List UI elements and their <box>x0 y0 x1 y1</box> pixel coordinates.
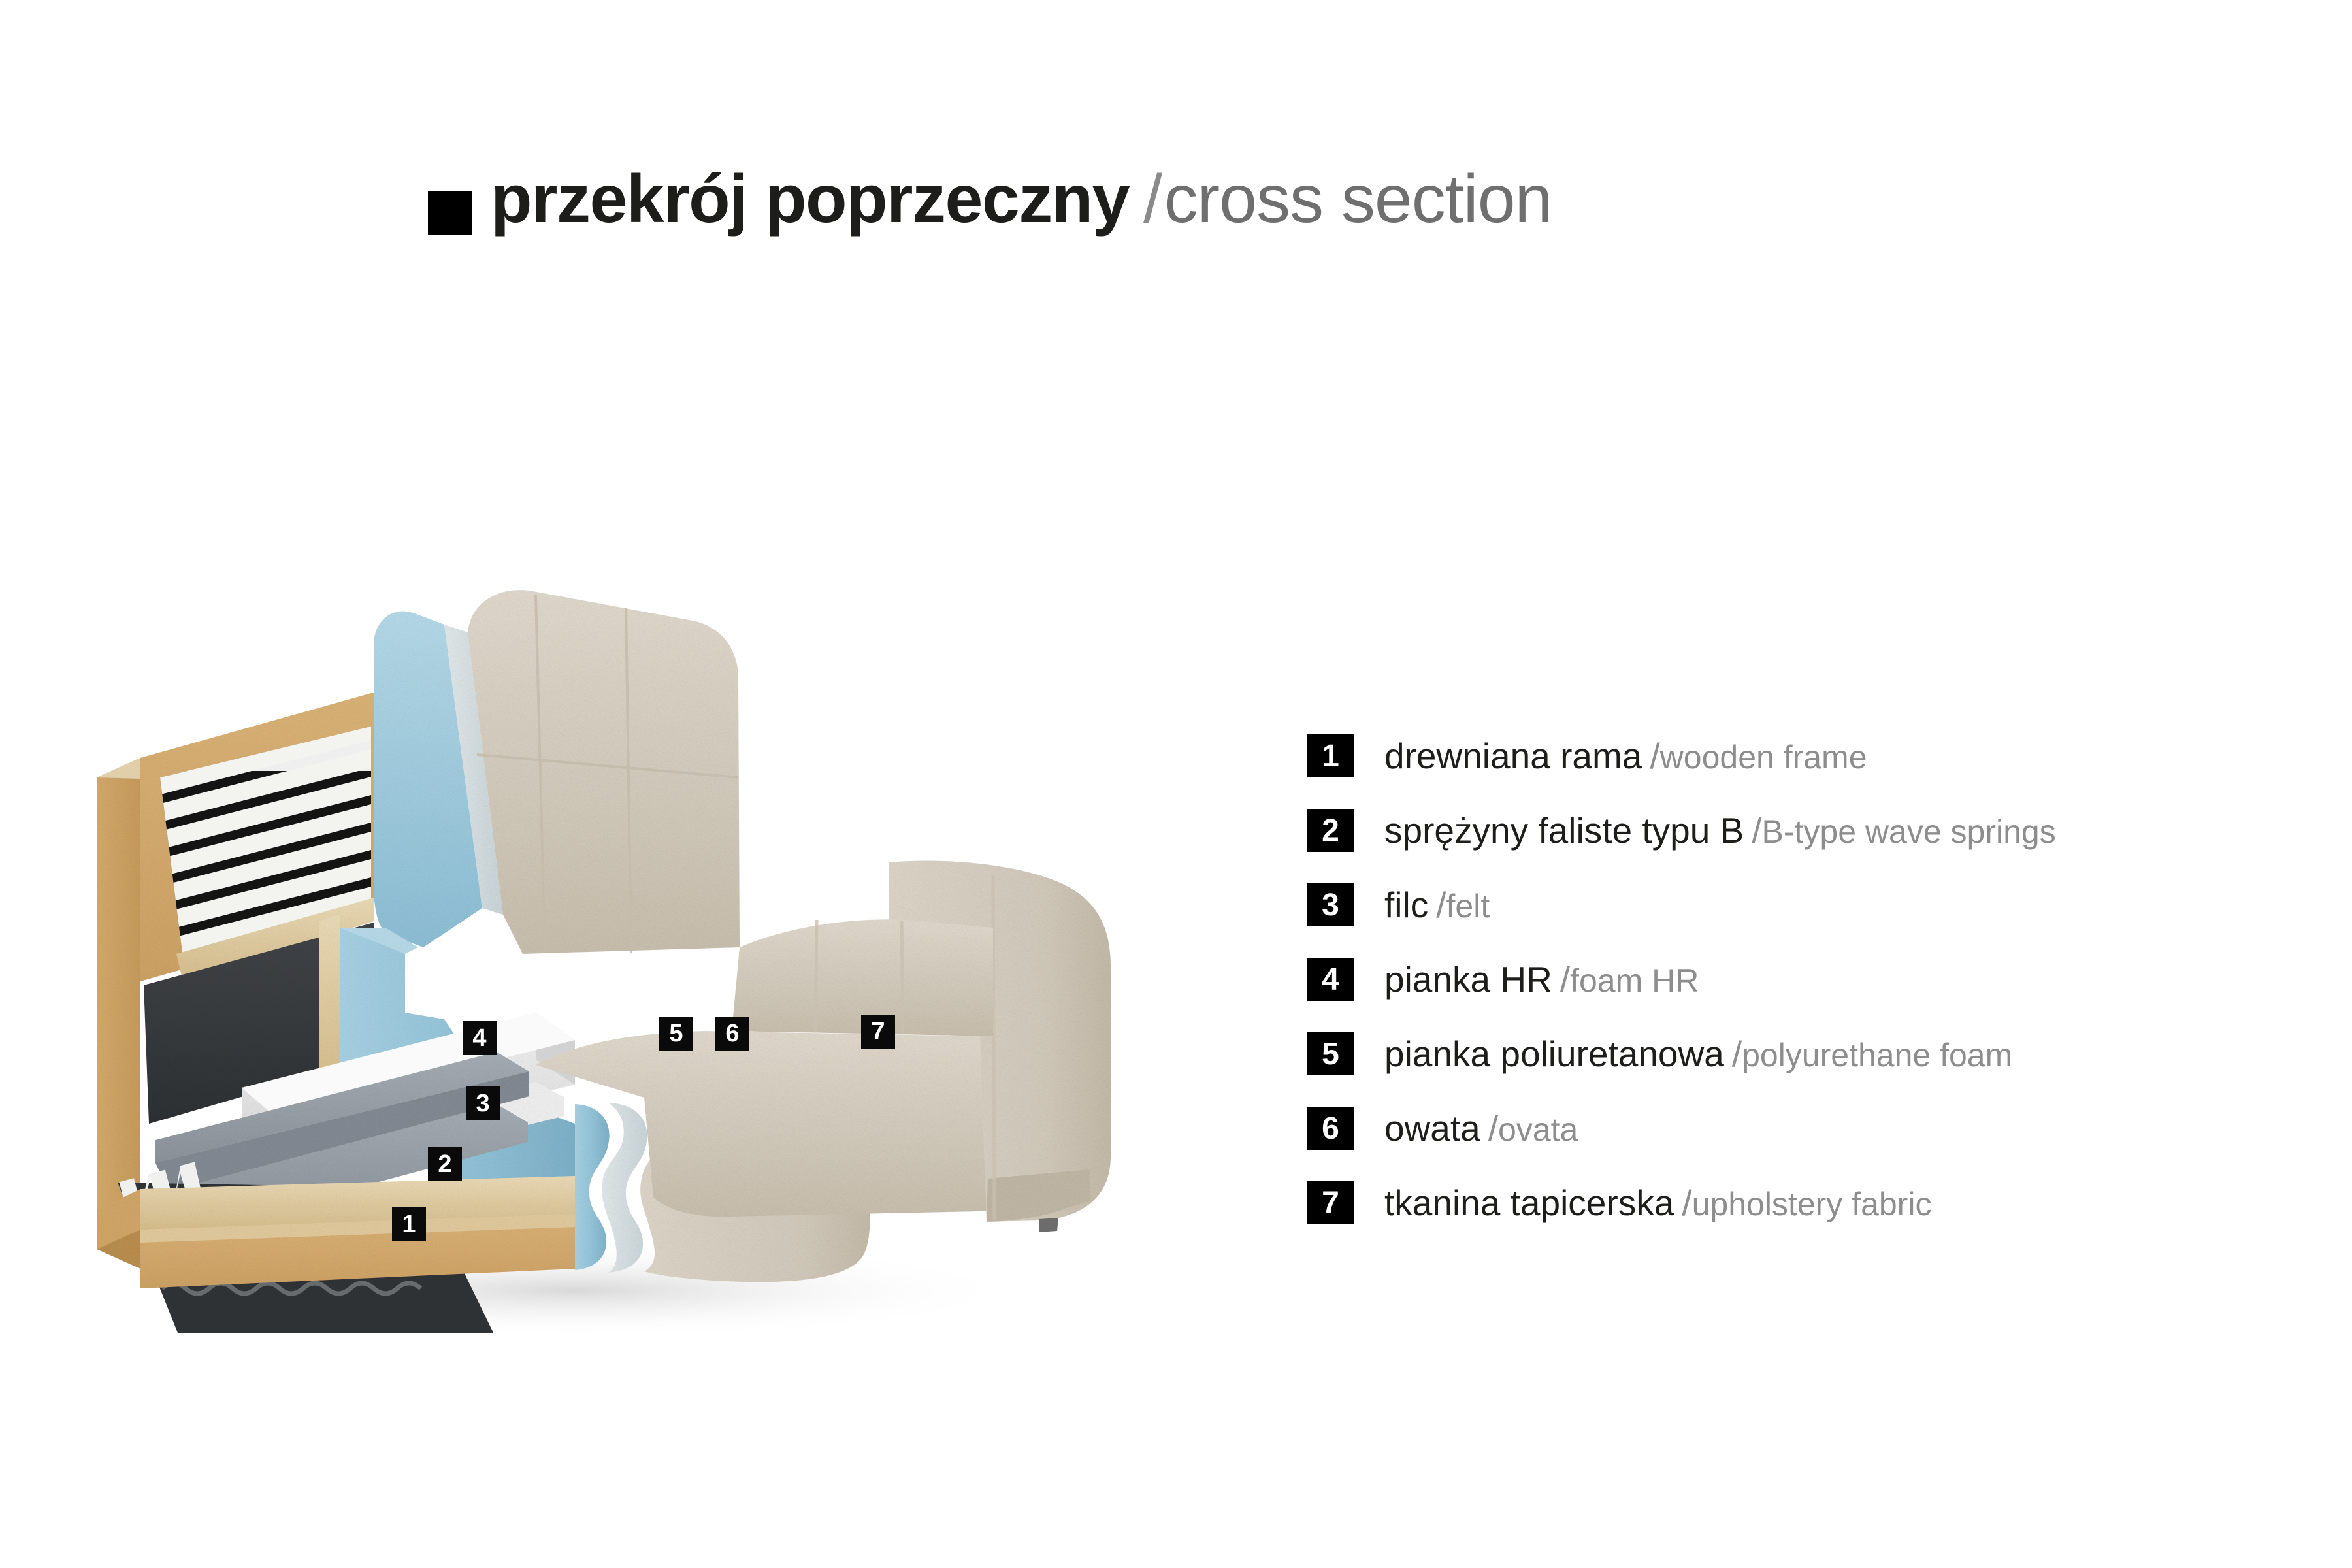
legend-label-2-en: B-type wave springs <box>1762 813 2056 850</box>
legend-item-1: 1 drewniana rama/wooden frame <box>1307 719 2255 793</box>
legend-label-6-pl: owata <box>1384 1108 1480 1149</box>
legend-label-4-pl: pianka HR <box>1384 959 1552 1000</box>
page-title-en: cross section <box>1164 161 1552 237</box>
page-title: przekrój poprzeczny/cross section <box>491 165 1552 233</box>
callout-3: 3 <box>466 1086 500 1120</box>
legend-label-5: pianka poliuretanowa/polyurethane foam <box>1384 1036 2012 1072</box>
legend-label-5-pl: pianka poliuretanowa <box>1384 1034 1724 1074</box>
legend-label-3-sep: / <box>1428 885 1446 925</box>
legend-label-6: owata/ovata <box>1384 1111 1578 1147</box>
legend-badge-6: 6 <box>1307 1107 1354 1150</box>
sofa-cross-section-svg <box>78 497 1241 1333</box>
legend-item-6: 6 owata/ovata <box>1307 1091 2255 1166</box>
legend-label-6-sep: / <box>1480 1108 1498 1149</box>
sofa-cross-section-illustration <box>78 497 1241 1333</box>
legend-label-7-pl: tkanina tapicerska <box>1384 1183 1674 1223</box>
backrest-upholstery-fabric <box>468 590 740 954</box>
legend-label-6-en: ovata <box>1498 1111 1578 1148</box>
legend-item-5: 5 pianka poliuretanowa/polyurethane foam <box>1307 1017 2255 1091</box>
wooden-post <box>319 915 340 1086</box>
legend-label-5-sep: / <box>1724 1034 1742 1074</box>
legend-label-7: tkanina tapicerska/upholstery fabric <box>1384 1185 1931 1221</box>
legend-item-4: 4 pianka HR/foam HR <box>1307 942 2255 1017</box>
legend-label-5-en: polyurethane foam <box>1742 1037 2012 1073</box>
legend-label-7-en: upholstery fabric <box>1692 1186 1932 1222</box>
legend-badge-4: 4 <box>1307 958 1354 1001</box>
legend-label-3-pl: filc <box>1384 885 1428 925</box>
filled-square-bullet-icon <box>428 191 472 235</box>
legend-label-4-en: foam HR <box>1570 962 1699 999</box>
callout-4: 4 <box>463 1021 497 1055</box>
infographic-page: przekrój poprzeczny/cross section <box>0 0 2352 1568</box>
materials-legend: 1 drewniana rama/wooden frame 2 sprężyny… <box>1307 719 2255 1240</box>
page-header: przekrój poprzeczny/cross section <box>428 163 1552 235</box>
callout-5: 5 <box>659 1017 693 1051</box>
callout-6: 6 <box>715 1017 749 1051</box>
legend-label-2-pl: sprężyny faliste typu B <box>1384 810 1744 851</box>
page-title-separator: / <box>1129 161 1164 237</box>
legend-label-1: drewniana rama/wooden frame <box>1384 738 1867 774</box>
legend-label-4-sep: / <box>1552 959 1570 1000</box>
legend-badge-1: 1 <box>1307 734 1354 777</box>
legend-label-1-en: wooden frame <box>1660 739 1867 776</box>
backrest-assembly <box>374 590 740 954</box>
legend-item-7: 7 tkanina tapicerska/upholstery fabric <box>1307 1166 2255 1240</box>
legend-badge-3: 3 <box>1307 883 1354 926</box>
legend-label-1-sep: / <box>1642 736 1659 776</box>
legend-label-1-pl: drewniana rama <box>1384 736 1642 776</box>
legend-label-2: sprężyny faliste typu B/B-type wave spri… <box>1384 813 2056 849</box>
legend-item-3: 3 filc/felt <box>1307 868 2255 942</box>
callout-7: 7 <box>861 1015 895 1049</box>
legend-label-2-sep: / <box>1744 810 1761 851</box>
legend-item-2: 2 sprężyny faliste typu B/B-type wave sp… <box>1307 793 2255 868</box>
sofa-foot <box>1039 1218 1058 1232</box>
legend-label-7-sep: / <box>1674 1183 1691 1223</box>
arm-block-seams <box>993 875 994 1220</box>
wooden-frame-bottom <box>97 1176 575 1288</box>
legend-label-4: pianka HR/foam HR <box>1384 962 1699 998</box>
page-title-pl: przekrój poprzeczny <box>491 161 1129 237</box>
legend-badge-2: 2 <box>1307 809 1354 852</box>
callout-1: 1 <box>392 1207 426 1241</box>
legend-label-3: filc/felt <box>1384 887 1490 923</box>
legend-badge-7: 7 <box>1307 1181 1354 1224</box>
legend-badge-5: 5 <box>1307 1032 1354 1075</box>
legend-label-3-en: felt <box>1446 888 1490 924</box>
callout-2: 2 <box>428 1147 462 1181</box>
